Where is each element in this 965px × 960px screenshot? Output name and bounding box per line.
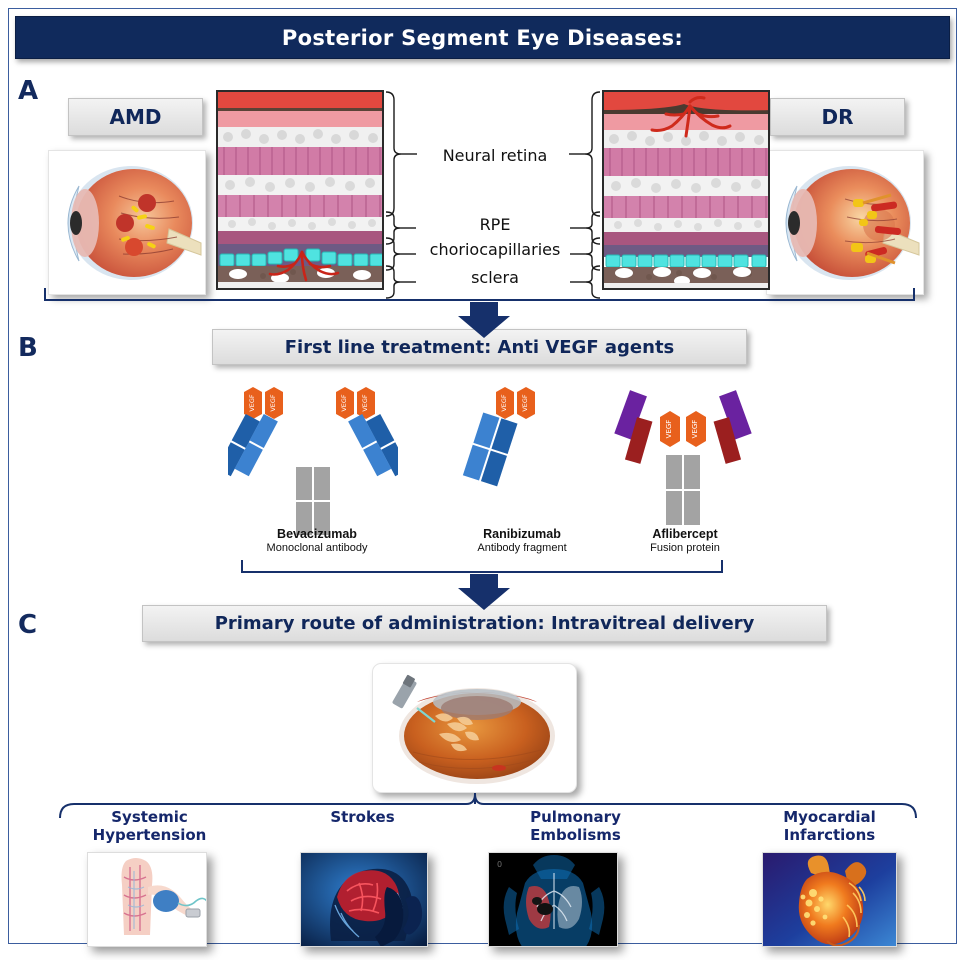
outcome-label-line2: Hypertension [93,826,207,844]
outcome-label-line1: Myocardial [783,808,876,826]
svg-text:0: 0 [497,860,502,869]
svg-text:VEGF: VEGF [269,394,277,412]
svg-text:VEGF: VEGF [521,394,529,412]
panel-letter-b: B [18,333,38,363]
outcome-strokes: Strokes [275,808,450,948]
disease-label-amd: AMD [68,98,203,136]
panel-letter-c: C [18,610,37,640]
layer-label-sclera: sclera [455,268,535,287]
outcome-image-lungs-embolism: 0 [488,852,618,947]
molecule-subtitle: Monoclonal antibody [222,542,412,554]
panel-c-header: Primary route of administration: Intravi… [142,605,827,642]
outcome-image-heart-infarction [762,852,897,947]
molecule-subtitle: Antibody fragment [437,542,607,554]
outcome-image-blood-pressure [87,852,207,947]
outcome-myocardial-infarctions: Myocardial Infarctions [732,808,927,948]
outcome-label-line1: Pulmonary [530,808,621,826]
panel-b-bottom-bracket [242,560,722,572]
molecule-caption-bevacizumab: Bevacizumab Monoclonal antibody [222,527,412,554]
svg-text:VEGF: VEGF [340,394,348,412]
figure-root: Posterior Segment Eye Diseases: A B C AM… [0,0,965,960]
molecule-subtitle: Fusion protein [600,542,770,554]
layer-label-neural-retina: Neural retina [425,146,565,165]
svg-text:VEGF: VEGF [361,394,369,412]
panel-letter-a: A [18,76,38,106]
molecule-ranibizumab: VEGF VEGF [452,385,562,545]
molecule-aflibercept: VEGF VEGF [608,385,758,545]
svg-text:VEGF: VEGF [248,394,256,412]
intravitreal-injection-image [372,663,577,793]
outcome-label: Systemic Hypertension [62,808,237,844]
molecule-name: Aflibercept [600,527,770,541]
outcome-systemic-hypertension: Systemic Hypertension [62,808,237,948]
outcome-label: Pulmonary Embolisms [478,808,673,844]
retina-cross-section-dr [602,90,770,290]
bracket-group-right [569,92,600,298]
outcome-label-line1: Strokes [330,808,394,826]
layer-label-choriocapillaries: choriocapillaries [420,240,570,259]
figure-title-bar: Posterior Segment Eye Diseases: [15,16,950,59]
page-title: Posterior Segment Eye Diseases: [282,26,683,50]
outcome-label: Strokes [275,808,450,826]
outcome-label: Myocardial Infarctions [732,808,927,844]
svg-text:VEGF: VEGF [691,420,699,439]
svg-text:VEGF: VEGF [500,394,508,412]
eye-globe-amd-image [48,150,206,295]
outcome-label-line2: Embolisms [530,826,621,844]
outcome-label-line2: Infarctions [784,826,875,844]
bracket-group-left [386,92,417,298]
panel-b-header: First line treatment: Anti VEGF agents [212,329,747,365]
vegf-ligand-group: VEGF VEGF [496,387,535,419]
molecule-bevacizumab: VEGF VEGF VEGF VEGF [228,385,398,545]
outcome-pulmonary-embolisms: Pulmonary Embolisms 0 [478,808,673,948]
molecule-name: Bevacizumab [222,527,412,541]
layer-label-rpe: RPE [455,215,535,234]
disease-label-dr: DR [770,98,905,136]
retina-cross-section-amd [216,90,384,290]
outcome-label-line1: Systemic [111,808,188,826]
vegf-ligand-group: VEGF VEGF [660,411,706,447]
molecule-name: Ranibizumab [437,527,607,541]
svg-text:VEGF: VEGF [665,420,673,439]
molecule-caption-ranibizumab: Ranibizumab Antibody fragment [437,527,607,554]
outcome-image-brain-stroke [300,852,428,947]
eye-globe-dr-image [766,150,924,295]
molecule-caption-aflibercept: Aflibercept Fusion protein [600,527,770,554]
